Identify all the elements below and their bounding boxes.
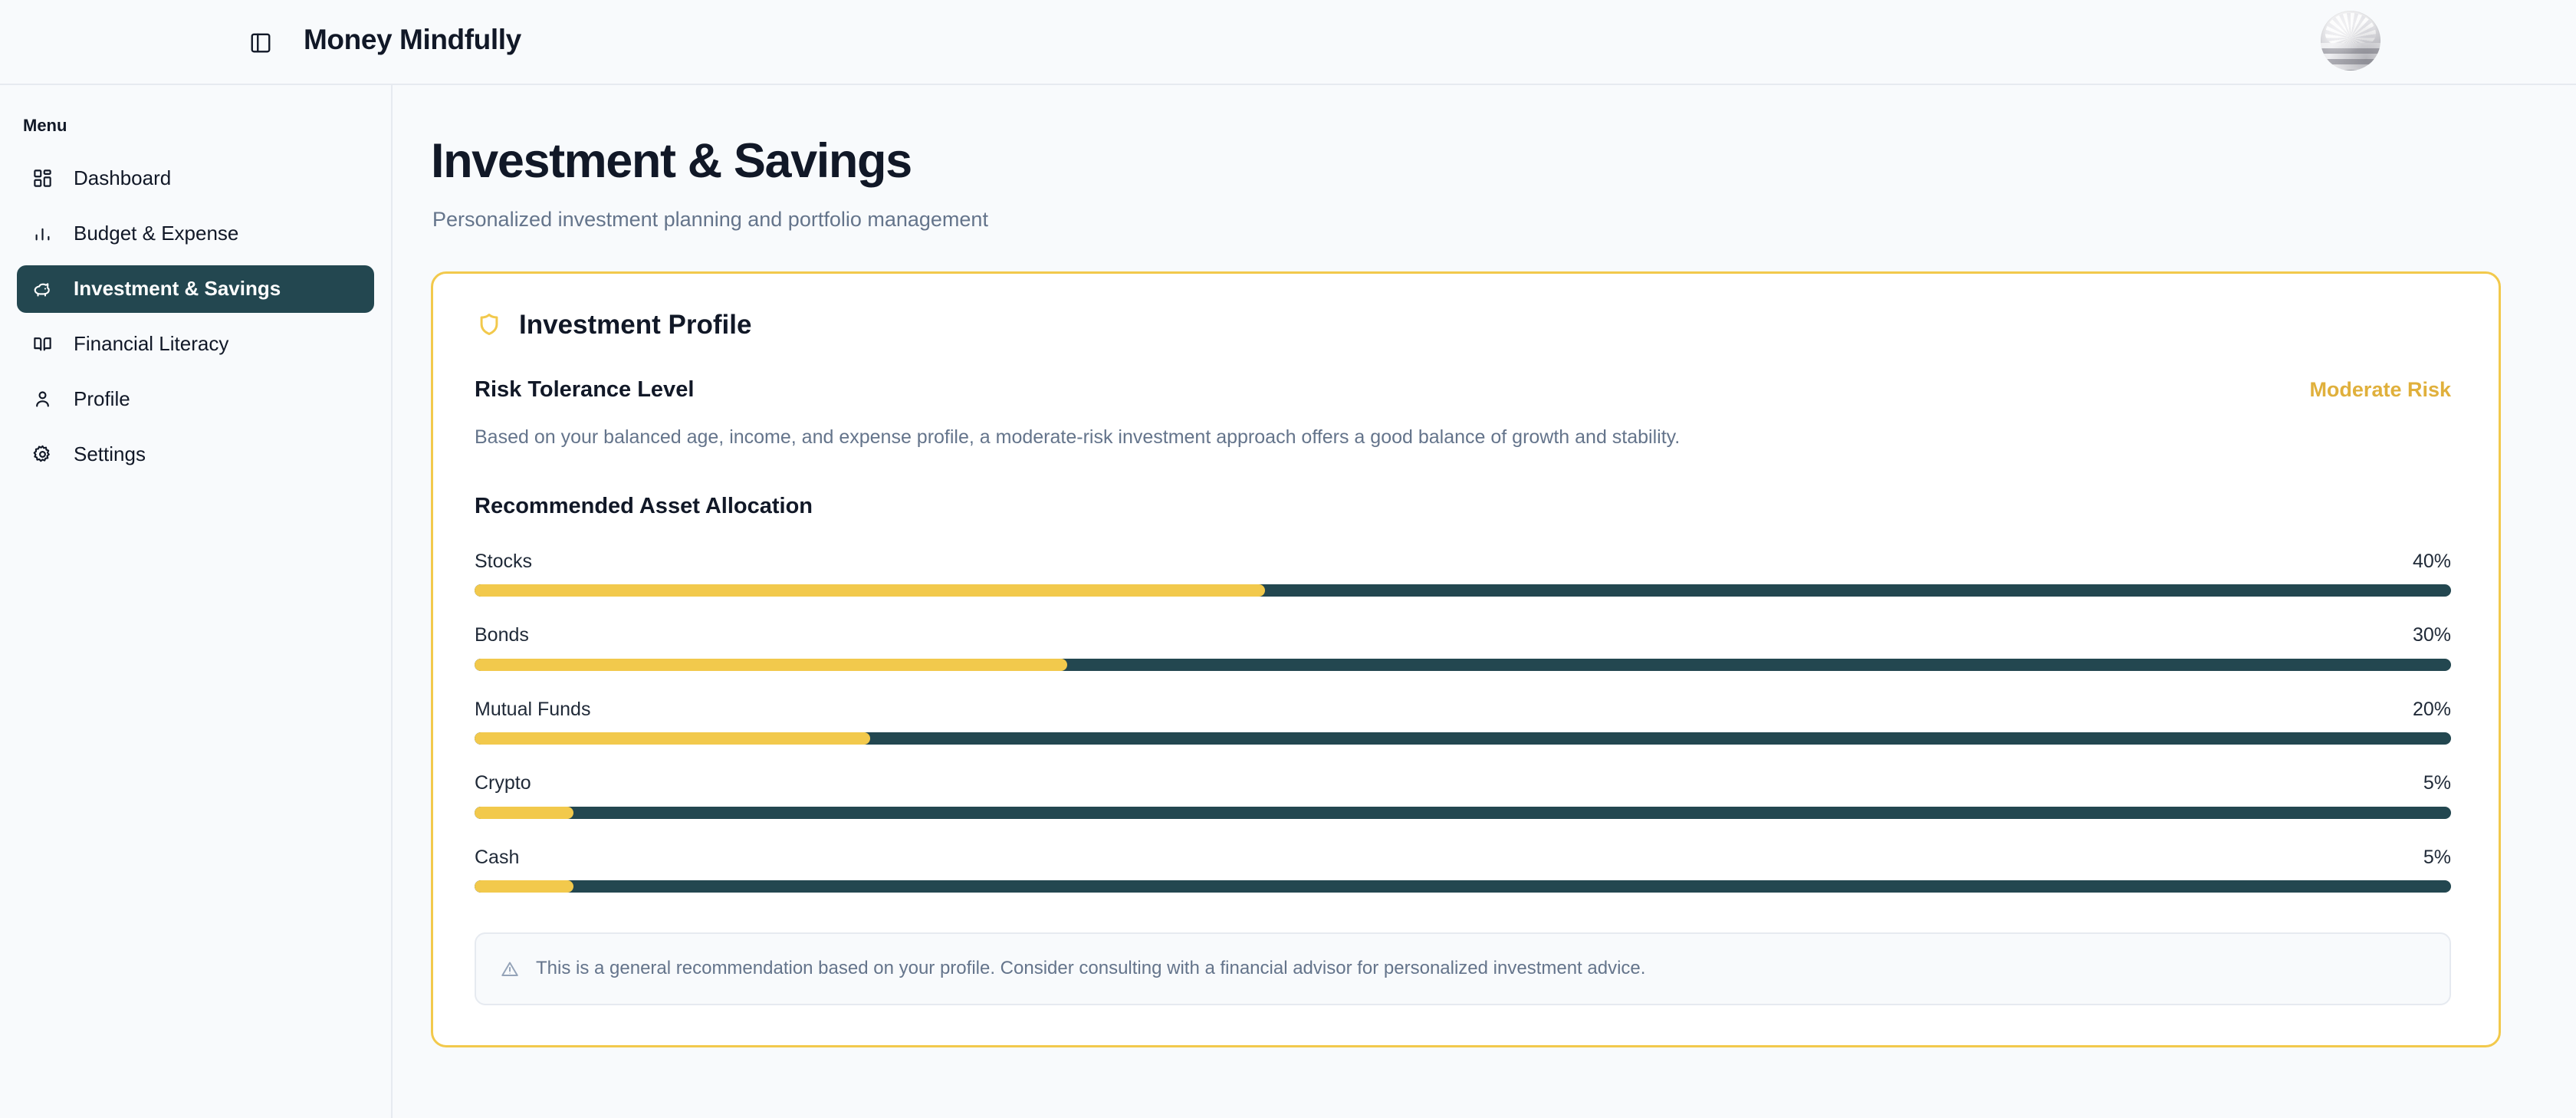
user-avatar[interactable] — [2321, 11, 2380, 71]
card-title: Investment Profile — [519, 307, 751, 343]
asset-percent: 20% — [2413, 697, 2451, 722]
top-header-bar: Money Mindfully — [0, 0, 2576, 85]
risk-description: Based on your balanced age, income, and … — [475, 423, 2451, 451]
allocation-bar-track — [475, 732, 2451, 745]
risk-tolerance-label: Risk Tolerance Level — [475, 376, 694, 405]
sidebar-item-budget-expense[interactable]: Budget & Expense — [17, 210, 374, 258]
risk-level-badge: Moderate Risk — [2309, 377, 2451, 403]
asset-name: Stocks — [475, 549, 532, 574]
card-header: Investment Profile — [475, 307, 2451, 343]
allocation-bar-track — [475, 659, 2451, 671]
sidebar-toggle-button[interactable] — [245, 28, 276, 58]
bar-chart-icon — [29, 221, 55, 247]
page-subtitle: Personalized investment planning and por… — [432, 206, 2492, 235]
main-content: Investment & Savings Personalized invest… — [394, 85, 2576, 1118]
disclaimer-note: This is a general recommendation based o… — [475, 932, 2451, 1005]
sidebar: Menu Dashboard Budget & Ex — [0, 85, 393, 1118]
sidebar-section-label: Menu — [0, 114, 391, 138]
asset-name: Cash — [475, 845, 519, 870]
sidebar-item-profile[interactable]: Profile — [17, 376, 374, 423]
allocation-row: Cash 5% — [475, 845, 2451, 893]
allocation-bar-fill — [475, 732, 870, 745]
risk-tolerance-row: Risk Tolerance Level Moderate Risk — [475, 376, 2451, 405]
avatar-image-shading — [2321, 11, 2380, 71]
asset-percent: 5% — [2423, 771, 2451, 796]
grid-icon — [29, 166, 55, 192]
sidebar-item-label: Financial Literacy — [74, 331, 228, 357]
gear-icon — [29, 442, 55, 468]
investment-profile-card: Investment Profile Risk Tolerance Level … — [431, 271, 2501, 1047]
piggy-bank-icon — [29, 276, 55, 302]
allocation-bar-fill — [475, 807, 573, 819]
warning-triangle-icon — [499, 959, 521, 980]
allocation-section-title: Recommended Asset Allocation — [475, 492, 2451, 521]
allocation-row: Bonds 30% — [475, 623, 2451, 671]
allocation-bar-track — [475, 807, 2451, 819]
asset-name: Mutual Funds — [475, 697, 590, 722]
allocation-row-header: Bonds 30% — [475, 623, 2451, 648]
asset-name: Crypto — [475, 771, 531, 796]
asset-percent: 5% — [2423, 845, 2451, 870]
allocation-bar-fill — [475, 659, 1067, 671]
allocation-row-header: Cash 5% — [475, 845, 2451, 870]
allocation-row: Crypto 5% — [475, 771, 2451, 819]
sidebar-item-label: Investment & Savings — [74, 276, 281, 302]
sidebar-item-label: Settings — [74, 442, 146, 468]
sidebar-item-label: Dashboard — [74, 166, 171, 192]
page-title: Investment & Savings — [431, 131, 2492, 192]
sidebar-item-dashboard[interactable]: Dashboard — [17, 155, 374, 202]
allocation-row: Stocks 40% — [475, 549, 2451, 597]
sidebar-nav-list: Dashboard Budget & Expense — [0, 155, 391, 478]
allocation-bar-track — [475, 880, 2451, 893]
allocation-bar-fill — [475, 584, 1265, 597]
allocation-bar-track — [475, 584, 2451, 597]
asset-percent: 40% — [2413, 549, 2451, 574]
asset-percent: 30% — [2413, 623, 2451, 648]
sidebar-item-investment-savings[interactable]: Investment & Savings — [17, 265, 374, 313]
allocation-row-header: Mutual Funds 20% — [475, 697, 2451, 722]
sidebar-item-label: Budget & Expense — [74, 221, 238, 247]
sidebar-item-settings[interactable]: Settings — [17, 431, 374, 478]
sidebar-toggle-icon — [249, 31, 272, 54]
sidebar-item-financial-literacy[interactable]: Financial Literacy — [17, 321, 374, 368]
allocation-bar-fill — [475, 880, 573, 893]
asset-allocation-list: Stocks 40% Bonds 30% Mutual Funds — [475, 549, 2451, 893]
allocation-row: Mutual Funds 20% — [475, 697, 2451, 745]
disclaimer-text: This is a general recommendation based o… — [536, 955, 1645, 982]
allocation-row-header: Crypto 5% — [475, 771, 2451, 796]
open-book-icon — [29, 331, 55, 357]
allocation-row-header: Stocks 40% — [475, 549, 2451, 574]
user-icon — [29, 386, 55, 413]
shield-icon — [475, 310, 504, 339]
sidebar-item-label: Profile — [74, 386, 130, 413]
brand-title: Money Mindfully — [304, 20, 521, 60]
asset-name: Bonds — [475, 623, 529, 648]
